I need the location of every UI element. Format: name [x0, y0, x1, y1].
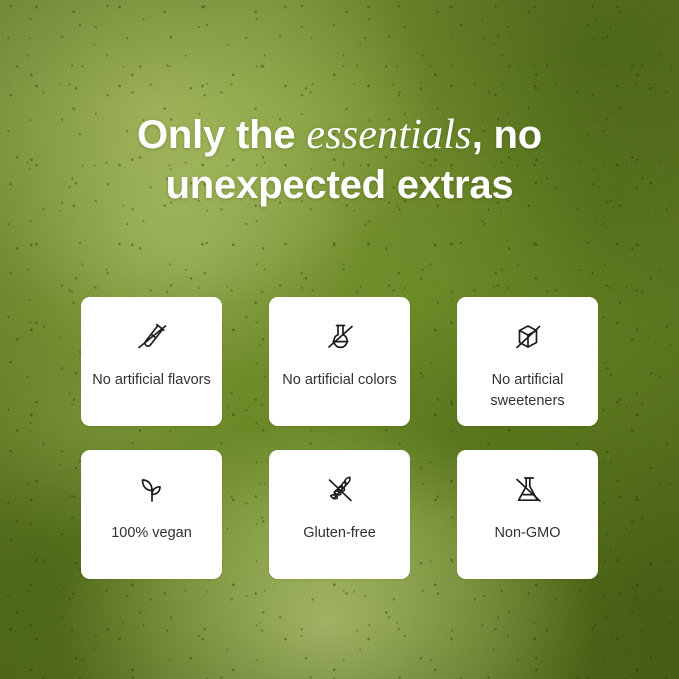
headline-emphasis: essentials: [306, 112, 471, 158]
wheat-stalk-crossed-out-icon: [318, 470, 362, 512]
feature-card-grid: No artificial flavors No artificial colo…: [81, 297, 598, 579]
conical-flask-crossed-out-icon: [506, 470, 550, 512]
feature-card[interactable]: No artificial colors: [269, 297, 410, 426]
feature-card[interactable]: No artificial sweeteners: [457, 297, 598, 426]
round-flask-crossed-out-icon: [318, 317, 362, 359]
sprout-leaf-icon: [130, 470, 174, 512]
promo-panel: Only the essentials, nounexpected extras…: [0, 0, 679, 679]
feature-card-label: 100% vegan: [86, 523, 218, 544]
feature-card[interactable]: Non-GMO: [457, 450, 598, 579]
feature-card-label: No artificial sweeteners: [462, 370, 594, 412]
headline-part-2: , no: [472, 113, 542, 157]
feature-card-label: Gluten-free: [274, 523, 406, 544]
headline-part-1: Only the: [137, 113, 306, 157]
feature-card-label: No artificial colors: [274, 370, 406, 391]
feature-card[interactable]: Gluten-free: [269, 450, 410, 579]
page-title: Only the essentials, nounexpected extras: [60, 110, 620, 210]
sugar-cube-crossed-out-icon: [506, 317, 550, 359]
feature-card-label: No artificial flavors: [86, 370, 218, 391]
feature-card[interactable]: 100% vegan: [81, 450, 222, 579]
headline-line-2: unexpected extras: [166, 163, 514, 207]
feature-card-label: Non-GMO: [462, 523, 594, 544]
feature-card[interactable]: No artificial flavors: [81, 297, 222, 426]
test-tube-crossed-out-icon: [130, 317, 174, 359]
